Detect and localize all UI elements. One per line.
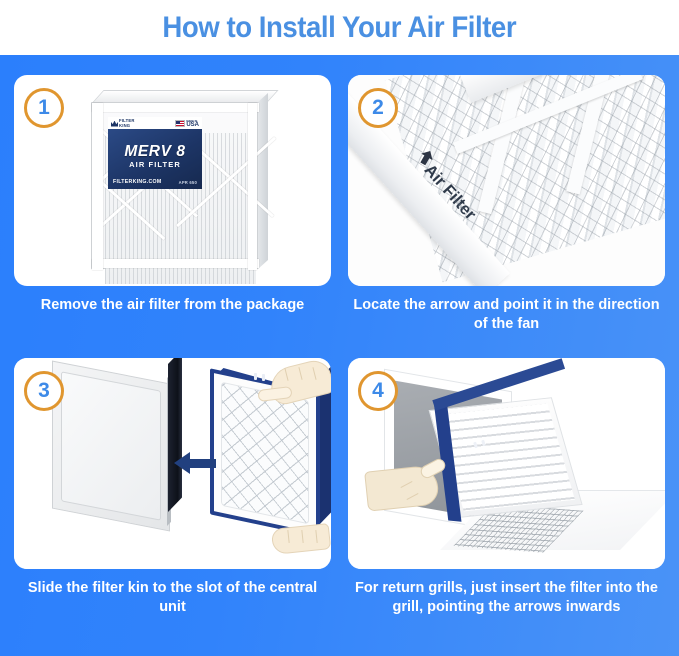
- filter-marking: [254, 373, 257, 380]
- usa-flag-icon: [175, 120, 185, 127]
- step-2-badge: 2: [358, 88, 398, 128]
- unit-panel-inset: [61, 371, 161, 520]
- hand-lower: [271, 523, 331, 555]
- filter-frame: FILTER KING MADE IN USA MERV 8: [91, 102, 258, 269]
- step-number: 4: [372, 379, 384, 403]
- page-title: How to Install Your Air Filter: [163, 11, 517, 45]
- filter-right-edge: [258, 93, 268, 269]
- step-4-caption: For return grills, just insert the filte…: [348, 579, 665, 617]
- filter-media-mesh: [221, 382, 309, 525]
- step-1-caption: Remove the air filter from the package: [14, 296, 331, 315]
- country-text: USA: [186, 124, 199, 128]
- frame-edge-bottom: [92, 259, 259, 268]
- frame-edge-top: [92, 103, 259, 112]
- step-4-badge: 4: [358, 371, 398, 411]
- step-number: 3: [38, 379, 50, 403]
- filter-slot: [168, 358, 182, 512]
- direction-arrow-icon: [174, 450, 216, 476]
- frame-edge-left: [92, 103, 103, 270]
- step-number: 2: [372, 96, 384, 120]
- infographic-page: How to Install Your Air Filter: [0, 0, 679, 656]
- crown-icon: [111, 121, 118, 127]
- step-3-badge: 3: [24, 371, 64, 411]
- filter-king-logo: FILTER KING: [111, 119, 135, 128]
- brand-text: FILTER KING: [119, 119, 135, 128]
- label-apr: APR 650: [179, 180, 197, 185]
- step-2-caption: Locate the arrow and point it in the dir…: [348, 296, 665, 334]
- step-number: 1: [38, 96, 50, 120]
- header: How to Install Your Air Filter: [0, 0, 679, 55]
- label-subtitle: AIR FILTER: [108, 160, 202, 169]
- filter-product-photo: FILTER KING MADE IN USA MERV 8: [86, 80, 266, 275]
- product-label: MERV 8 AIR FILTER FILTERKING.COM APR 650: [108, 129, 202, 189]
- central-unit-panel: [52, 361, 170, 532]
- label-website: FILTERKING.COM: [113, 179, 161, 185]
- step-3-caption: Slide the filter kin to the slot of the …: [14, 579, 331, 617]
- made-in-usa-badge: MADE IN USA: [175, 120, 199, 127]
- frame-edge-right: [248, 103, 257, 270]
- step-1-badge: 1: [24, 88, 64, 128]
- filter-marking: [262, 374, 265, 381]
- merv-rating: MERV 8: [108, 143, 202, 161]
